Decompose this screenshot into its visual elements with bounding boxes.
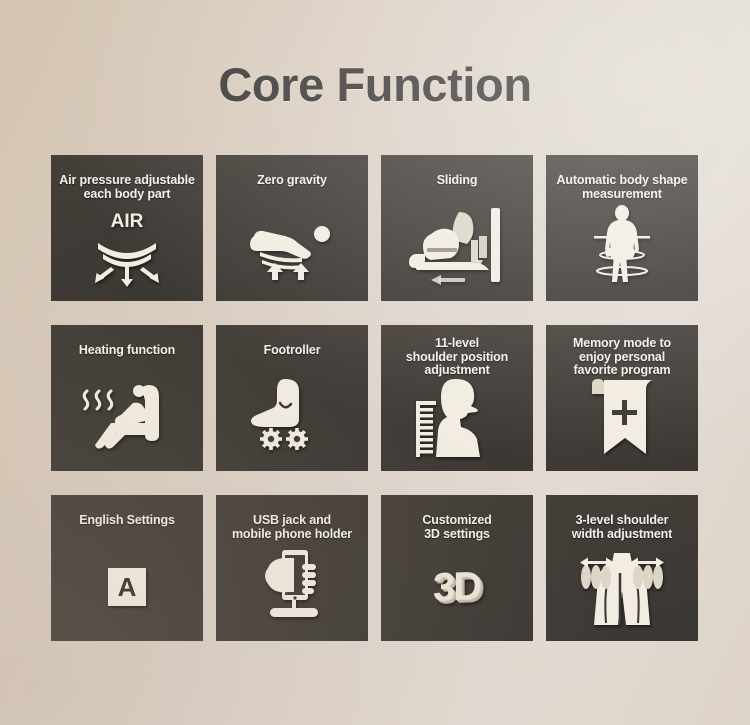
feature-label: 3-level shoulder width adjustment	[550, 514, 694, 541]
feature-card-english-settings[interactable]: English Settings A	[51, 495, 203, 641]
air-pressure-icon: AIR	[51, 201, 203, 293]
feature-card-usb-phone-holder[interactable]: USB jack and mobile phone holder	[216, 495, 368, 641]
shoulder-position-scale-icon	[381, 371, 533, 463]
letter-a-badge-icon: A	[51, 541, 203, 633]
feature-grid: Air pressure adjustable each body part A…	[51, 155, 698, 641]
bookmark-plus-icon	[546, 371, 698, 463]
zero-gravity-recliner-icon	[216, 201, 368, 293]
feature-label: English Settings	[55, 514, 199, 528]
feature-label: Customized 3D settings	[385, 514, 529, 541]
feature-label: Heating function	[55, 344, 199, 358]
feature-card-footroller[interactable]: Footroller	[216, 325, 368, 471]
feature-label: Footroller	[220, 344, 364, 358]
body-measurement-icon	[546, 201, 698, 293]
feature-card-memory-mode[interactable]: Memory mode to enjoy personal favorite p…	[546, 325, 698, 471]
three-d-text: 3D	[433, 566, 480, 608]
sliding-chair-wall-icon	[381, 201, 533, 293]
svg-text:AIR: AIR	[111, 211, 144, 232]
letter-a-badge-text: A	[108, 568, 146, 606]
feature-card-3d-settings[interactable]: Customized 3D settings 3D	[381, 495, 533, 641]
shoulder-width-airbag-icon	[546, 541, 698, 633]
page-background: Core Function Air pressure adjustable ea…	[0, 0, 750, 725]
feature-label: Sliding	[385, 174, 529, 188]
feature-label: USB jack and mobile phone holder	[220, 514, 364, 541]
feature-card-zero-gravity[interactable]: Zero gravity	[216, 155, 368, 301]
feature-card-body-measurement[interactable]: Automatic body shape measurement	[546, 155, 698, 301]
feature-label: Air pressure adjustable each body part	[55, 174, 199, 201]
feature-card-sliding[interactable]: Sliding	[381, 155, 533, 301]
page-title: Core Function	[0, 57, 750, 112]
feature-label: Automatic body shape measurement	[550, 174, 694, 201]
heating-seat-icon	[51, 371, 203, 463]
feature-card-shoulder-width[interactable]: 3-level shoulder width adjustment	[546, 495, 698, 641]
feature-card-air-pressure[interactable]: Air pressure adjustable each body part A…	[51, 155, 203, 301]
three-d-text-icon: 3D	[381, 541, 533, 633]
phone-holder-icon	[216, 541, 368, 633]
feature-card-shoulder-position[interactable]: 11-level shoulder position adjustment	[381, 325, 533, 471]
feature-card-heating[interactable]: Heating function	[51, 325, 203, 471]
foot-roller-icon	[216, 371, 368, 463]
feature-label: Zero gravity	[220, 174, 364, 188]
